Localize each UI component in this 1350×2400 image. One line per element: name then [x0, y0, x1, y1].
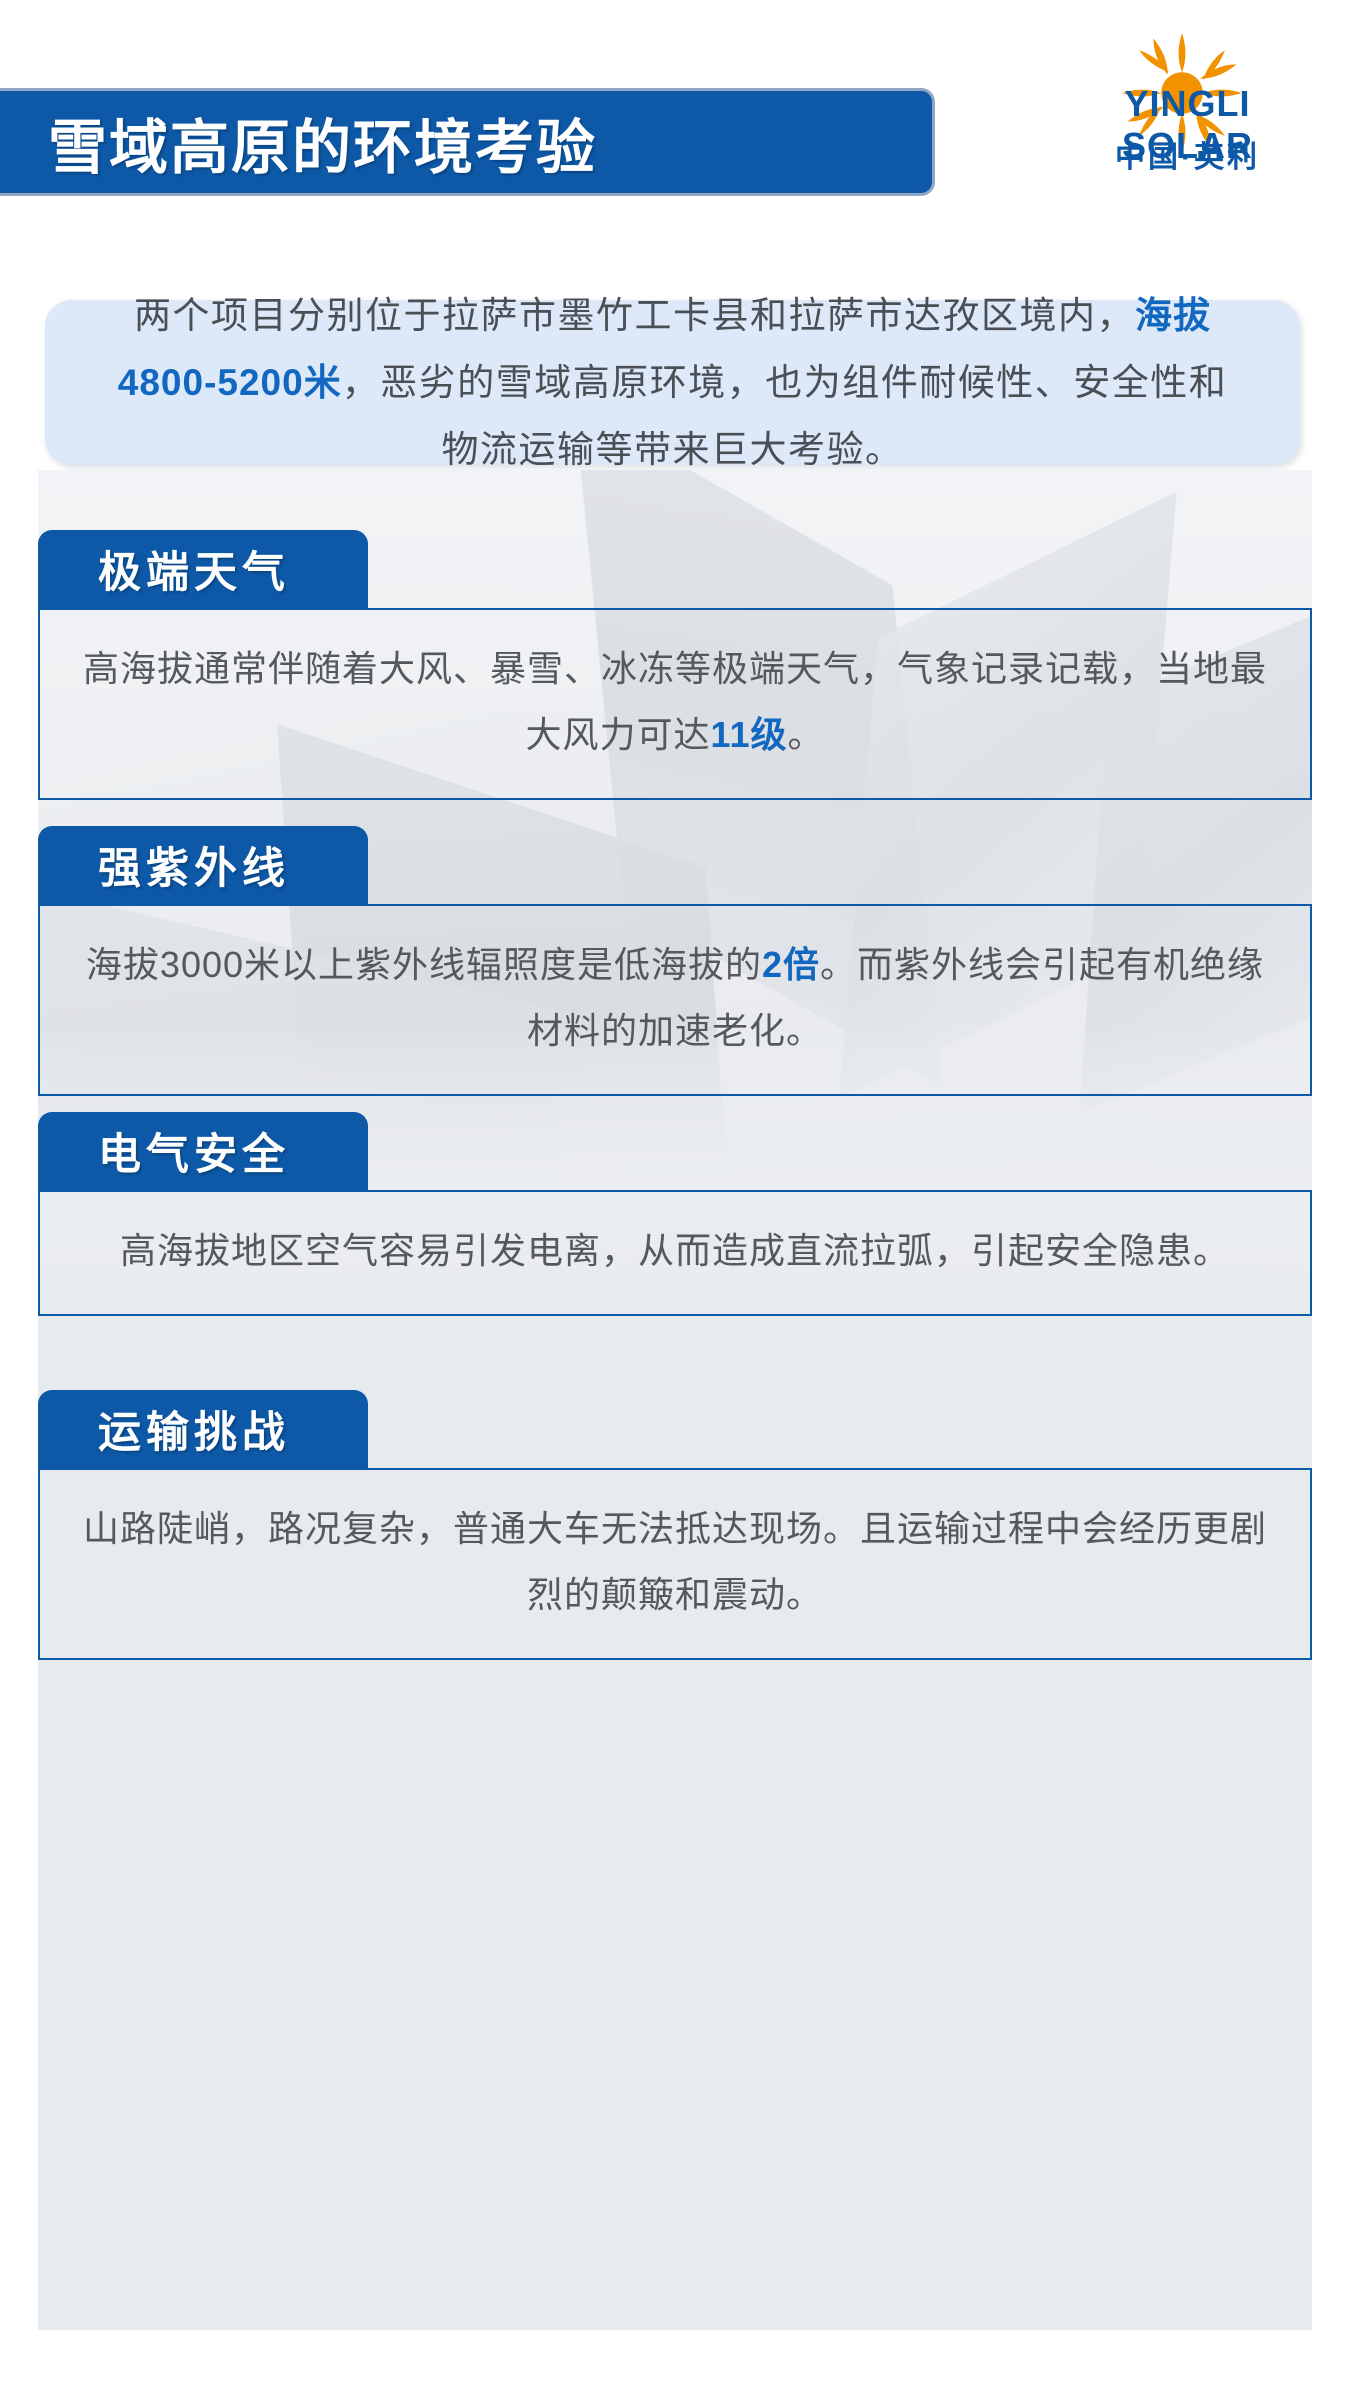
page-header: 雪域高原的环境考验 [0, 0, 1350, 190]
card-title-label: 强紫外线 [98, 834, 290, 896]
challenge-card-electrical-safety: 电气安全 高海拔地区空气容易引发电离，从而造成直流拉弧，引起安全隐患。 [38, 1112, 1312, 1316]
page-title: 雪域高原的环境考验 [48, 100, 597, 185]
card-highlight-value: 2倍 [762, 944, 820, 985]
card-title-tab: 运输挑战 [38, 1390, 368, 1468]
company-logo: YINGLI SOLAR 中国·英利 [1055, 28, 1320, 183]
logo-chinese-name: 中国·英利 [1055, 132, 1320, 176]
card-title-tab: 极端天气 [38, 530, 368, 608]
card-body-text: 山路陡峭，路况复杂，普通大车无法抵达现场。且运输过程中会经历更剧烈的颠簸和震动。 [74, 1496, 1276, 1628]
intro-paragraph: 两个项目分别位于拉萨市墨竹工卡县和拉萨市达孜区境内，海拔4800-5200米，恶… [105, 282, 1240, 483]
card-title-label: 极端天气 [98, 538, 290, 600]
card-title-label: 运输挑战 [98, 1398, 290, 1460]
challenge-card-transport: 运输挑战 山路陡峭，路况复杂，普通大车无法抵达现场。且运输过程中会经历更剧烈的颠… [38, 1390, 1312, 1660]
card-body-text: 高海拔地区空气容易引发电离，从而造成直流拉弧，引起安全隐患。 [74, 1218, 1276, 1284]
infographic-page: 雪域高原的环境考验 [0, 0, 1350, 2400]
card-title-tab: 强紫外线 [38, 826, 368, 904]
challenge-card-extreme-weather: 极端天气 高海拔通常伴随着大风、暴雪、冰冻等极端天气，气象记录记载，当地最大风力… [38, 530, 1312, 800]
card-text-part1: 高海拔地区空气容易引发电离，从而造成直流拉弧，引起安全隐患。 [120, 1230, 1230, 1271]
card-body: 高海拔地区空气容易引发电离，从而造成直流拉弧，引起安全隐患。 [38, 1190, 1312, 1316]
card-highlight-value: 11级 [710, 714, 787, 755]
card-body-text: 高海拔通常伴随着大风、暴雪、冰冻等极端天气，气象记录记载，当地最大风力可达11级… [74, 636, 1276, 768]
card-text-part1: 海拔3000米以上紫外线辐照度是低海拔的 [86, 944, 762, 985]
intro-text-part1: 两个项目分别位于拉萨市墨竹工卡县和拉萨市达孜区境内， [134, 295, 1135, 336]
card-text-part1: 高海拔通常伴随着大风、暴雪、冰冻等极端天气，气象记录记载，当地最大风力可达 [83, 648, 1267, 755]
page-title-banner: 雪域高原的环境考验 [0, 88, 935, 196]
card-body: 山路陡峭，路况复杂，普通大车无法抵达现场。且运输过程中会经历更剧烈的颠簸和震动。 [38, 1468, 1312, 1660]
intro-callout-box: 两个项目分别位于拉萨市墨竹工卡县和拉萨市达孜区境内，海拔4800-5200米，恶… [45, 300, 1300, 465]
card-text-part2: 。 [788, 714, 825, 755]
content-area: 极端天气 高海拔通常伴随着大风、暴雪、冰冻等极端天气，气象记录记载，当地最大风力… [38, 470, 1312, 2330]
challenge-card-strong-uv: 强紫外线 海拔3000米以上紫外线辐照度是低海拔的2倍。而紫外线会引起有机绝缘材… [38, 826, 1312, 1096]
intro-text-part2: ，恶劣的雪域高原环境，也为组件耐候性、安全性和物流运输等带来巨大考验。 [342, 362, 1228, 470]
card-title-label: 电气安全 [98, 1120, 290, 1182]
card-body: 海拔3000米以上紫外线辐照度是低海拔的2倍。而紫外线会引起有机绝缘材料的加速老… [38, 904, 1312, 1096]
card-body: 高海拔通常伴随着大风、暴雪、冰冻等极端天气，气象记录记载，当地最大风力可达11级… [38, 608, 1312, 800]
card-title-tab: 电气安全 [38, 1112, 368, 1190]
card-body-text: 海拔3000米以上紫外线辐照度是低海拔的2倍。而紫外线会引起有机绝缘材料的加速老… [74, 932, 1276, 1064]
card-text-part1: 山路陡峭，路况复杂，普通大车无法抵达现场。且运输过程中会经历更剧烈的颠簸和震动。 [83, 1508, 1267, 1615]
